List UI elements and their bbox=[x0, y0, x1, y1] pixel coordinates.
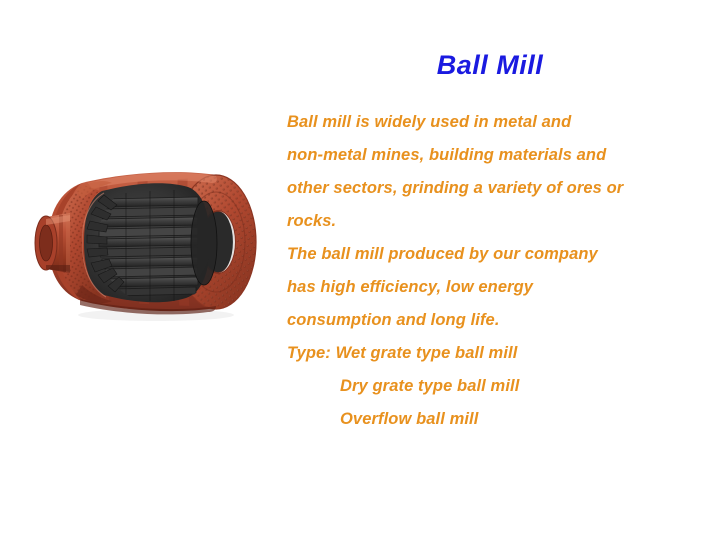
body-line: Ball mill is widely used in metal and bbox=[287, 106, 687, 139]
body-line-type-option: Overflow ball mill bbox=[287, 403, 687, 436]
body-line: rocks. bbox=[287, 205, 687, 238]
mill-interior-cutaway bbox=[82, 183, 217, 302]
body-line-type-option: Dry grate type ball mill bbox=[287, 370, 687, 403]
body-line: The ball mill produced by our company bbox=[287, 238, 687, 271]
body-line: non-metal mines, building materials and bbox=[287, 139, 687, 172]
body-line: has high efficiency, low energy bbox=[287, 271, 687, 304]
body-text-block: Ball mill is widely used in metal and no… bbox=[287, 106, 687, 436]
slide-canvas: Ball Mill bbox=[0, 0, 720, 540]
body-line: other sectors, grinding a variety of ore… bbox=[287, 172, 687, 205]
body-line: consumption and long life. bbox=[287, 304, 687, 337]
ball-mill-cutaway-illustration bbox=[18, 155, 270, 327]
page-title: Ball Mill bbox=[290, 50, 690, 81]
body-line-type: Type: Wet grate type ball mill bbox=[287, 337, 687, 370]
ball-mill-svg bbox=[18, 155, 270, 327]
feed-trunnion bbox=[35, 213, 70, 273]
